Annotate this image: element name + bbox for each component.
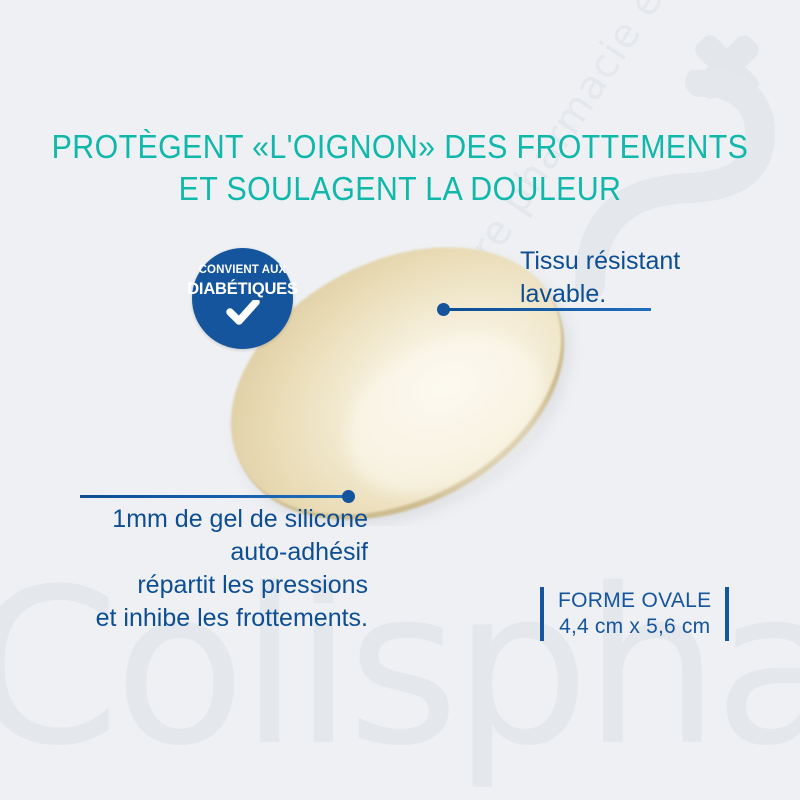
annotation-gel-line-3: répartit les pressions [28, 569, 368, 602]
badge-line-1: CONVIENT AUX [199, 265, 287, 277]
annotation-gel: 1mm de gel de silicone auto-adhésif répa… [28, 503, 368, 635]
shape-label-text: FORME OVALE 4,4 cm x 5,6 cm [558, 587, 711, 641]
leader-dot-gel [342, 490, 355, 503]
pharmacy-cross-icon [675, 15, 780, 120]
shape-label-line-1: FORME OVALE [558, 588, 711, 614]
shape-label-bar-right [725, 587, 729, 641]
annotation-gel-line-1: 1mm de gel de silicone [28, 503, 368, 536]
status-badge-diabetic: CONVIENT AUX DIABÉTIQUES [192, 248, 293, 349]
badge-line-2: DIABÉTIQUES [187, 280, 298, 299]
annotation-gel-line-2: auto-adhésif [28, 536, 368, 569]
page-title-line-2: ET SOULAGENT LA DOULEUR [32, 168, 768, 210]
leader-dot-fabric [437, 303, 450, 316]
checkmark-icon [226, 300, 260, 326]
shape-label-bar-left [540, 587, 544, 641]
page-title-line-1: PROTÈGENT «L'OIGNON» DES FROTTEMENTS [32, 126, 768, 168]
page-title: PROTÈGENT «L'OIGNON» DES FROTTEMENTS ET … [32, 126, 768, 210]
promo-image-canvas: Colispharma votre pharmacie en ligne PRO… [0, 0, 800, 800]
leader-line-fabric [449, 308, 651, 311]
annotation-fabric-line-1: Tissu résistant [520, 245, 680, 278]
annotation-gel-line-4: et inhibe les frottements. [28, 602, 368, 635]
shape-label-line-2: 4,4 cm x 5,6 cm [558, 614, 711, 640]
annotation-fabric: Tissu résistant lavable. [520, 245, 680, 311]
leader-line-gel [80, 495, 350, 498]
shape-size-label: FORME OVALE 4,4 cm x 5,6 cm [540, 587, 729, 641]
annotation-fabric-line-2: lavable. [520, 278, 680, 311]
